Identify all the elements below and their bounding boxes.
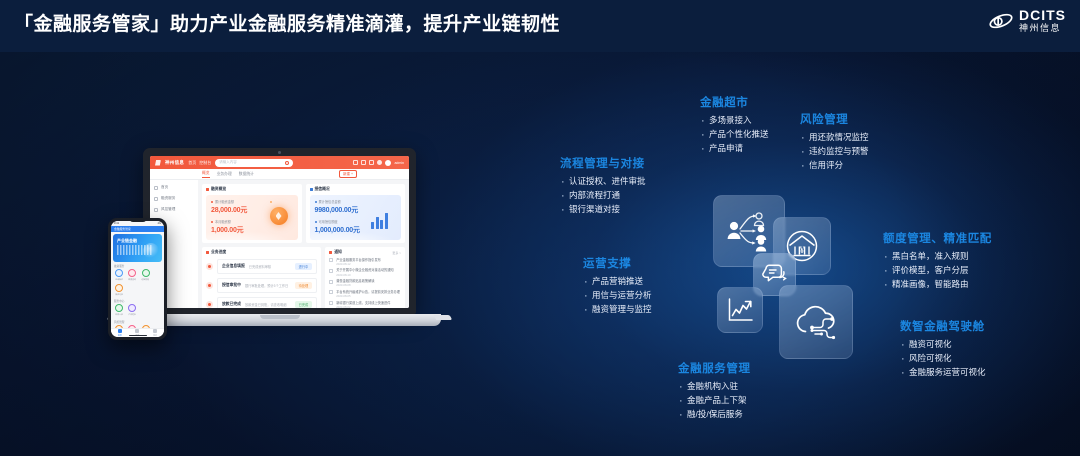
label-item: 融/投/保后服务 xyxy=(678,408,751,422)
dashboard-topbar-actions: admin xyxy=(353,160,404,166)
news-row[interactable]: 新增银行渠道上线，支持线上快速进件 2023-08-02 xyxy=(329,301,401,308)
phone-section-title-2: 风控管理 xyxy=(114,320,164,324)
quota-query-icon xyxy=(128,269,136,277)
dashboard-body: 首页 融资服务 风控管理 xyxy=(150,180,409,308)
growth-chart-icon xyxy=(727,297,754,323)
phone-grid-item[interactable]: 额度查询 xyxy=(126,269,138,281)
label-list: 用还款情况监控 违约监控与预警 信用评分 xyxy=(800,131,869,172)
phone-grid-item[interactable]: 机构入驻 xyxy=(113,304,125,316)
phone-grid-item[interactable]: 融资记录 xyxy=(113,284,125,296)
timeline-title-1: 授信审批中 xyxy=(222,283,241,288)
laptop-foot-right xyxy=(434,315,453,320)
label-item: 评价模型，客户分层 xyxy=(883,264,992,278)
apps-icon[interactable] xyxy=(353,160,358,165)
label-item: 用信与运营分析 xyxy=(583,289,652,303)
kpi-card-right-title: 授信概况 xyxy=(315,187,330,192)
product-market-icon xyxy=(128,304,136,312)
label-item: 产品营销推送 xyxy=(583,275,652,289)
label-item: 金融机构入驻 xyxy=(678,380,751,394)
tab-0[interactable]: 概览 xyxy=(202,171,210,178)
risk-icon xyxy=(154,208,158,212)
phone-screen: 9:41 4G 金融服务管家 产业链金融 融资服务 在线融资 xyxy=(111,221,164,337)
timeline-header: 业务进度 xyxy=(206,250,317,255)
sidebar-item-0[interactable]: 首页 xyxy=(154,185,194,190)
news-date-2: 2023-08-08 xyxy=(336,283,374,287)
label-jinrong-fuwu-guanli: 金融服务管理 金融机构入驻 金融产品上下架 融/投/保后服务 xyxy=(678,360,751,421)
doc-icon xyxy=(329,290,333,294)
label-fengxian-guanli: 风险管理 用还款情况监控 违约监控与预警 信用评分 xyxy=(800,111,869,172)
kpi-card-left: 融资概览 累计融资金额 xyxy=(202,184,302,243)
timeline-sub-1: 银行审批处理，预计3个工作日 xyxy=(245,283,288,288)
timeline-row[interactable]: 授信审批中 银行审批处理，预计3个工作日 待处理 xyxy=(206,278,317,293)
step-dot-icon xyxy=(206,282,213,289)
label-jinrong-chaoshi: 金融超市 多场景接入 产品个性化推送 产品申请 xyxy=(700,94,769,155)
kpi-card-right: 授信概况 累计授信总金额 xyxy=(306,184,406,243)
lower-row: 业务进度 企业信息填报 已完成资料审核 进行中 xyxy=(202,247,405,308)
kpi-label-text-1: 本月融资额 xyxy=(215,219,231,224)
laptop-trackpad-notch xyxy=(260,315,300,319)
sidebar-label-2: 风控管理 xyxy=(161,207,175,212)
online-finance-icon xyxy=(115,269,123,277)
news-more-link[interactable]: 更多 > xyxy=(392,251,401,255)
kpi-panel-orange: 累计融资金额 28,000.00元 本月融资额 1,000.00元 xyxy=(206,195,298,240)
bullet-dot xyxy=(315,221,317,223)
orange-marker-icon xyxy=(206,251,209,254)
dashboard-tabbar: 概览 业务办理 数据统计 新建 + xyxy=(150,169,409,180)
menu-item-1[interactable]: 控制台 xyxy=(199,160,211,166)
dashboard-menu[interactable]: 首页 控制台 xyxy=(188,160,211,166)
label-item: 融资可视化 xyxy=(900,338,986,352)
sidebar-label-1: 融资服务 xyxy=(161,196,175,201)
bell-icon[interactable] xyxy=(361,160,366,165)
news-card: 通知 更多 > 产业金融服务平台操作指引发布 2023-08-12 xyxy=(325,247,405,308)
logo-en: DCITS xyxy=(1019,8,1066,22)
label-item: 违约监控与预警 xyxy=(800,145,869,159)
status-badge-2: 已完成 xyxy=(295,301,313,308)
label-yunying-zhicheng: 运营支撑 产品营销推送 用信与运营分析 融资管理与监控 xyxy=(583,255,652,316)
label-shuzhi-jiashicang: 数智金融驾驶舱 融资可视化 风险可视化 金融服务运营可视化 xyxy=(900,318,986,379)
search-placeholder: 请输入内容 xyxy=(219,160,237,165)
people-network-icon xyxy=(726,210,772,252)
phone-notch xyxy=(129,218,147,222)
laptop-screen: 神州信息 首页 控制台 请输入内容 a xyxy=(150,156,409,308)
phone-tab-mine[interactable]: 我的 xyxy=(153,329,157,337)
label-list: 金融机构入驻 金融产品上下架 融/投/保后服务 xyxy=(678,380,751,421)
timeline-title: 业务进度 xyxy=(211,250,226,255)
timeline-sub-0: 已完成资料审核 xyxy=(249,264,271,269)
label-item: 融资管理与监控 xyxy=(583,303,652,317)
news-date-0: 2023-08-12 xyxy=(336,262,381,266)
dashboard-main: 融资概览 累计融资金额 xyxy=(198,180,409,308)
kpi-label-text-2: 累计授信总金额 xyxy=(319,199,341,204)
spark-dot-icon xyxy=(270,201,272,203)
label-item: 产品申请 xyxy=(700,142,769,156)
timeline-card: 业务进度 企业信息填报 已完成资料审核 进行中 xyxy=(202,247,321,308)
grid-label: 机构入驻 xyxy=(115,313,122,316)
label-title: 金融超市 xyxy=(700,94,769,110)
user-name: admin xyxy=(394,161,404,165)
kpi-label-0: 累计融资金额 xyxy=(211,199,293,204)
news-row[interactable]: 产业金融服务平台操作指引发布 2023-08-12 xyxy=(329,258,401,266)
news-date-3: 2023-08-05 xyxy=(336,294,400,298)
search-icon xyxy=(285,161,289,165)
step-dot-icon xyxy=(206,263,213,270)
icon-card-cluster: ¥ xyxy=(713,195,863,360)
doc-icon xyxy=(329,258,333,262)
blue-marker-icon xyxy=(310,188,313,191)
news-title: 通知 xyxy=(334,250,342,255)
timeline-sub-2: 放款资金已到账，请查收明细 xyxy=(245,302,286,307)
label-item: 风险可视化 xyxy=(900,352,986,366)
cloud-computing-icon xyxy=(793,302,839,342)
status-time: 9:41 xyxy=(114,222,119,225)
news-row[interactable]: 普惠金融贷款贴息政策解读 2023-08-08 xyxy=(329,279,401,287)
phone-icon-grid-0: 在线融资 额度查询 还款管理 融资记录 xyxy=(111,269,164,297)
kpi-label-text-3: 可用授信额度 xyxy=(319,219,338,224)
label-item: 黑白名单，准入规则 xyxy=(883,250,992,264)
phone-section-title-0: 融资服务 xyxy=(114,264,164,268)
dashboard-brand: 神州信息 xyxy=(165,160,184,166)
label-list: 认证授权、进件审批 内部流程打通 银行渠道对接 xyxy=(560,175,646,216)
phone-app-header: 金融服务管家 xyxy=(111,226,164,232)
message-icon[interactable] xyxy=(377,160,382,165)
news-date-1: 2023-08-10 xyxy=(336,273,393,277)
orange-marker-icon xyxy=(329,251,332,254)
service-icon xyxy=(135,329,139,333)
phone-app-title: 金融服务管家 xyxy=(114,227,131,231)
repayment-icon xyxy=(142,269,150,277)
kpi-label-text-0: 累计融资金额 xyxy=(215,199,234,204)
label-item: 精准画像，智能路由 xyxy=(883,278,992,292)
label-title: 运营支撑 xyxy=(583,255,652,271)
label-title: 风险管理 xyxy=(800,111,869,127)
sidebar-label-0: 首页 xyxy=(161,185,168,190)
grid-label: 产品超市 xyxy=(129,313,136,316)
grid-label: 融资记录 xyxy=(115,293,122,296)
status-signal: 4G xyxy=(158,222,161,225)
brand-logo: DCITS 神州信息 xyxy=(988,8,1066,33)
tab-2[interactable]: 数据统计 xyxy=(239,172,254,177)
phone-mockup: 9:41 4G 金融服务管家 产业链金融 融资服务 在线融资 xyxy=(108,218,167,340)
menu-item-0[interactable]: 首页 xyxy=(188,160,196,166)
bullet-dot xyxy=(211,201,213,203)
finance-icon xyxy=(154,197,158,201)
label-item: 银行渠道对接 xyxy=(560,203,646,217)
kpi-card-left-title: 融资概览 xyxy=(211,187,226,192)
label-title: 流程管理与对接 xyxy=(560,155,646,171)
bullet-dot xyxy=(315,201,317,203)
label-item: 信用评分 xyxy=(800,159,869,173)
news-date-4: 2023-08-02 xyxy=(336,305,390,308)
phone-grid-item[interactable]: 还款管理 xyxy=(140,269,152,281)
timeline-title-2: 放款已完成 xyxy=(222,302,241,307)
chat-service-icon xyxy=(762,263,788,287)
status-badge-0: 进行中 xyxy=(295,263,313,270)
finance-record-icon xyxy=(115,284,123,292)
label-item: 内部流程打通 xyxy=(560,189,646,203)
phone-grid-item[interactable]: 产品超市 xyxy=(126,304,138,316)
label-item: 金融服务运营可视化 xyxy=(900,366,986,380)
tab-1[interactable]: 业务办理 xyxy=(217,172,232,177)
news-row[interactable]: 关于开展中小微企业融资对接活动的通知 2023-08-10 xyxy=(329,268,401,276)
label-list: 多场景接入 产品个性化推送 产品申请 xyxy=(700,114,769,155)
diamond-orb-icon xyxy=(270,207,288,225)
kpi-label-2: 累计授信总金额 xyxy=(315,199,397,204)
phone-tab-label-2: 我的 xyxy=(153,334,157,337)
bar-chart-icon xyxy=(371,209,393,229)
kpi-wave-decor xyxy=(206,226,298,240)
help-icon[interactable] xyxy=(369,160,374,165)
phone-section-title-1: 服务中心 xyxy=(114,299,164,303)
label-item: 多场景接入 xyxy=(700,114,769,128)
timeline-box: 企业信息填报 已完成资料审核 进行中 xyxy=(217,259,317,274)
grid-label: 在线融资 xyxy=(115,278,122,281)
slide-header: 「金融服务管家」助力产业金融服务精准滴灌，提升产业链韧性 DCITS 神州信息 xyxy=(0,0,1080,52)
label-title: 数智金融驾驶舱 xyxy=(900,318,986,334)
home-icon xyxy=(154,186,158,190)
doc-icon xyxy=(329,301,333,305)
doc-icon xyxy=(329,280,333,284)
home-icon xyxy=(118,329,122,333)
timeline-title-0: 企业信息填报 xyxy=(222,264,245,269)
kpi-row: 融资概览 累计融资金额 xyxy=(202,184,405,243)
news-header: 通知 更多 > xyxy=(329,250,401,255)
label-item: 认证授权、进件审批 xyxy=(560,175,646,189)
sidebar-item-2[interactable]: 风控管理 xyxy=(154,207,194,212)
news-row[interactable]: 平台系统升级维护公告，请提前安排业务办理 2023-08-05 xyxy=(329,290,401,298)
laptop-mockup: 神州信息 首页 控制台 请输入内容 a xyxy=(143,148,416,314)
label-title: 额度管理、精准匹配 xyxy=(883,230,992,246)
timeline-box: 放款已完成 放款资金已到账，请查收明细 已完成 xyxy=(217,297,317,308)
sidebar-item-1[interactable]: 融资服务 xyxy=(154,196,194,201)
label-item: 用还款情况监控 xyxy=(800,131,869,145)
timeline-box: 授信审批中 银行审批处理，预计3个工作日 待处理 xyxy=(217,278,317,293)
page-title: 「金融服务管家」助力产业金融服务精准滴灌，提升产业链韧性 xyxy=(14,9,560,36)
dashboard-topbar: 神州信息 首页 控制台 请输入内容 a xyxy=(150,156,409,169)
step-dot-icon xyxy=(206,301,213,308)
label-list: 黑白名单，准入规则 评价模型，客户分层 精准画像，智能路由 xyxy=(883,250,992,291)
phone-icon-grid-1: 机构入驻 产品超市 xyxy=(111,304,164,318)
news-text-1: 关于开展中小微企业融资对接活动的通知 xyxy=(336,268,393,272)
orange-marker-icon xyxy=(206,188,209,191)
status-badge-1: 待处理 xyxy=(295,282,313,289)
slide-canvas: 「金融服务管家」助力产业金融服务精准滴灌，提升产业链韧性 DCITS 神州信息 xyxy=(0,0,1080,456)
banner-glow-decor xyxy=(143,243,159,259)
institution-entry-icon xyxy=(115,304,123,312)
bullet-dot xyxy=(211,221,213,223)
label-item: 产品个性化推送 xyxy=(700,128,769,142)
cloud-computing-card xyxy=(779,285,853,359)
dashboard-search-input[interactable]: 请输入内容 xyxy=(215,159,293,167)
logo-text-block: DCITS 神州信息 xyxy=(1019,8,1066,33)
kpi-card-right-header: 授信概况 xyxy=(310,187,402,192)
label-edu-guanli: 额度管理、精准匹配 黑白名单，准入规则 评价模型，客户分层 精准画像，智能路由 xyxy=(883,230,992,291)
phone-home-indicator xyxy=(129,335,147,337)
user-icon xyxy=(153,329,157,333)
label-item: 金融产品上下架 xyxy=(678,394,751,408)
laptop-camera-icon xyxy=(278,151,281,154)
kpi-card-left-header: 融资概览 xyxy=(206,187,298,192)
phone-hero-banner: 产业链金融 xyxy=(113,234,162,262)
phone-tab-label-0: 首页 xyxy=(118,334,122,337)
device-mockups: 神州信息 首页 控制台 请输入内容 a xyxy=(0,0,460,456)
label-list: 融资可视化 风险可视化 金融服务运营可视化 xyxy=(900,338,986,379)
phone-tab-home[interactable]: 首页 xyxy=(118,329,122,337)
label-title: 金融服务管理 xyxy=(678,360,751,376)
label-liucheng-guanli: 流程管理与对接 认证授权、进件审批 内部流程打通 银行渠道对接 xyxy=(560,155,646,216)
logo-cn: 神州信息 xyxy=(1019,24,1066,33)
phone-grid-item[interactable]: 在线融资 xyxy=(113,269,125,281)
doc-icon xyxy=(329,269,333,273)
timeline-row[interactable]: 放款已完成 放款资金已到账，请查收明细 已完成 xyxy=(206,297,317,308)
new-record-button[interactable]: 新建 + xyxy=(339,170,357,178)
brand-icon xyxy=(155,160,161,166)
label-list: 产品营销推送 用信与运营分析 融资管理与监控 xyxy=(583,275,652,316)
banner-title: 产业链金融 xyxy=(117,238,137,244)
kpi-panel-blue: 累计授信总金额 9980,000.00元 可用授信额度 1,000,000.00… xyxy=(310,195,402,240)
svg-text:¥: ¥ xyxy=(800,245,805,255)
dcits-swirl-icon xyxy=(988,10,1014,32)
grid-label: 额度查询 xyxy=(129,278,136,281)
avatar[interactable] xyxy=(385,160,391,166)
grid-label: 还款管理 xyxy=(142,278,149,281)
timeline-row[interactable]: 企业信息填报 已完成资料审核 进行中 xyxy=(206,259,317,274)
growth-chart-card xyxy=(717,287,763,333)
